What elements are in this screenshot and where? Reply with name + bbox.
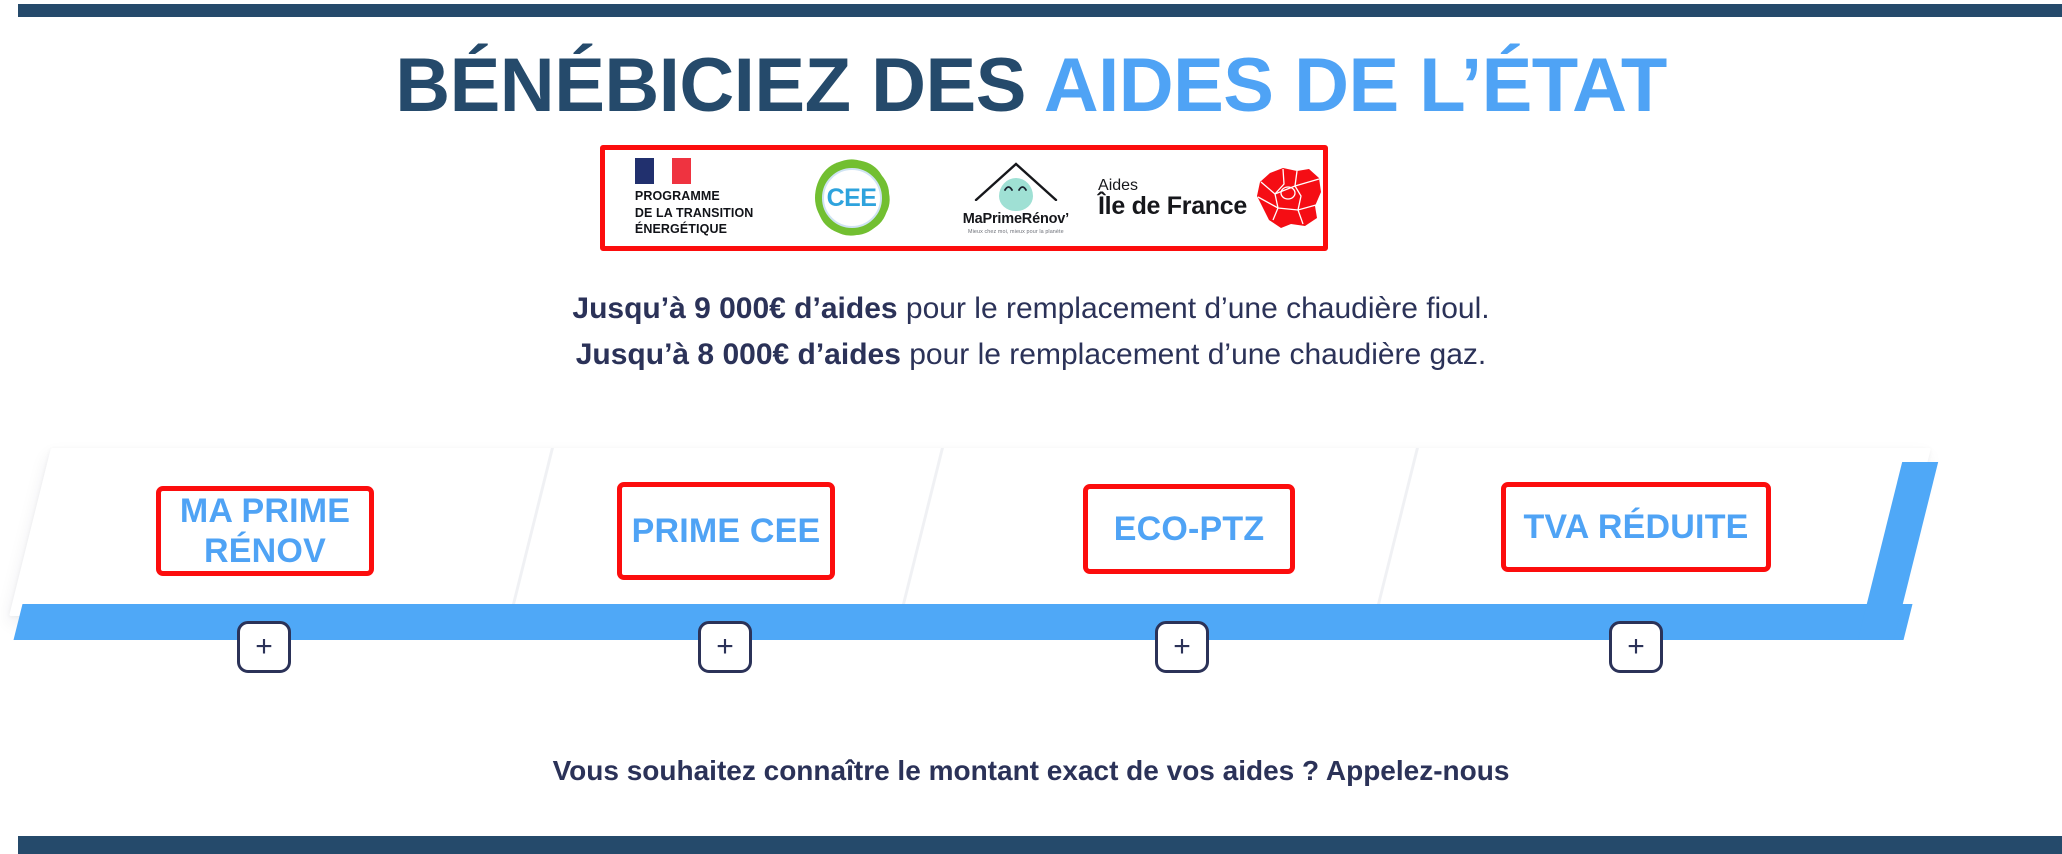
plus-icon: + [1173,630,1191,663]
bottom-rule [18,836,2062,854]
aid-card-ma-prime-renov[interactable]: MA PRIME RÉNOV [156,486,374,576]
logo-programme-transition-energetique: PROGRAMME DE LA TRANSITION ÉNERGÉTIQUE [605,150,769,246]
aid-card-eco-ptz[interactable]: ECO-PTZ [1083,484,1295,574]
aid-amount-line: Jusqu’à 8 000€ d’aides pour le remplacem… [0,332,2062,378]
expand-button-eco-ptz[interactable]: + [1155,621,1209,673]
pte-line-3: ÉNERGÉTIQUE [635,221,754,238]
pte-line-2: DE LA TRANSITION [635,205,754,222]
aid-amount-rest: pour le remplacement d’une chaudière fio… [898,292,1490,325]
cee-label: CEE [827,186,877,211]
aids-panel: MA PRIME RÉNOV + PRIME CEE + ECO-PTZ + T… [0,436,2062,660]
aid-amount-lead: Jusqu’à 9 000€ d’aides [572,292,897,325]
plus-icon: + [255,630,273,663]
french-flag-icon [635,158,691,184]
maprimerenov-house-icon [973,161,1059,211]
page-title-dark: BÉNÉBICIEZ DES [395,43,1043,128]
aid-card-label: MA PRIME RÉNOV [161,491,369,571]
contact-cta-text: Vous souhaitez connaître le montant exac… [0,755,2062,787]
logo-aides-ile-de-france: Aides Île de France [1098,150,1323,246]
page-title: BÉNÉBICIEZ DES AIDES DE L’ÉTAT [0,48,2062,124]
pte-line-1: PROGRAMME [635,188,754,205]
aides-etat-section: BÉNÉBICIEZ DES AIDES DE L’ÉTAT PROGRAMME… [0,0,2062,854]
aid-amount-rest: pour le remplacement d’une chaudière gaz… [901,338,1486,371]
plus-icon: + [716,630,734,663]
logo-cee: CEE [769,150,933,246]
partner-logos-strip: PROGRAMME DE LA TRANSITION ÉNERGÉTIQUE C… [600,145,1328,251]
page-title-blue: AIDES DE L’ÉTAT [1044,43,1667,128]
maprimerenov-tagline: Mieux chez moi, mieux pour la planète [968,230,1064,235]
plus-icon: + [1627,630,1645,663]
expand-button-tva-reduite[interactable]: + [1609,621,1663,673]
idf-line-2: Île de France [1098,194,1247,219]
top-rule [18,4,2062,17]
aid-card-prime-cee[interactable]: PRIME CEE [617,482,835,580]
logo-maprimerenov: MaPrimeRénov’ Mieux chez moi, mieux pour… [934,150,1098,246]
aid-card-tva-reduite[interactable]: TVA RÉDUITE [1501,482,1771,572]
aid-card-label: ECO-PTZ [1114,509,1265,549]
aid-amount-lines: Jusqu’à 9 000€ d’aides pour le remplacem… [0,286,2062,377]
aid-card-label: PRIME CEE [632,511,821,551]
cee-badge-icon: CEE [815,161,889,235]
expand-button-prime-cee[interactable]: + [698,621,752,673]
aid-amount-line: Jusqu’à 9 000€ d’aides pour le remplacem… [0,286,2062,332]
aid-amount-lead: Jusqu’à 8 000€ d’aides [576,338,901,371]
maprimerenov-title: MaPrimeRénov’ [963,212,1069,227]
ile-de-france-map-icon [1253,166,1323,230]
expand-button-ma-prime-renov[interactable]: + [237,621,291,673]
aid-card-label: TVA RÉDUITE [1523,507,1748,547]
